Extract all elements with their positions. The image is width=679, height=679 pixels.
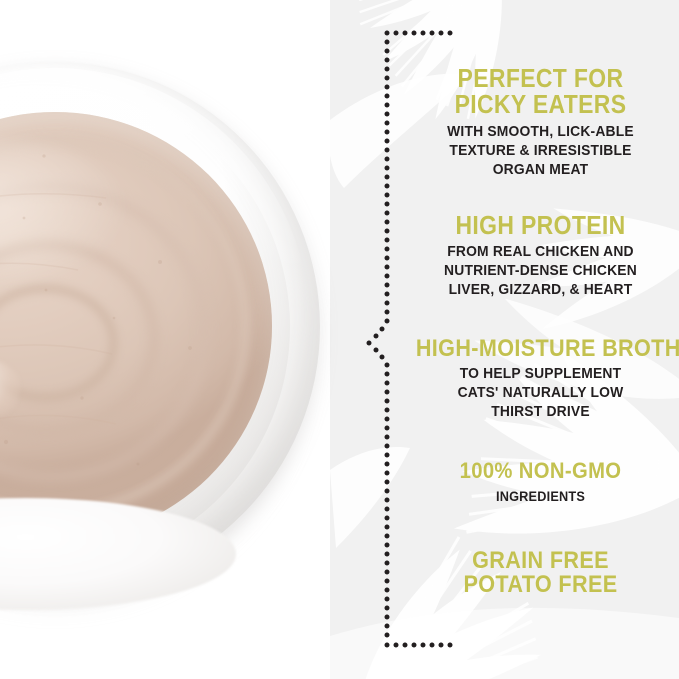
feature-item-high-moisture-broth: HIGH-MOISTURE BROTH TO HELP SUPPLEMENT C… (402, 337, 679, 422)
subtext-line: TEXTURE & IRRESISTIBLE (409, 142, 672, 161)
headline-line: GRAIN FREE (416, 549, 665, 573)
feature-item-high-protein: HIGH PROTEIN FROM REAL CHICKEN AND NUTRI… (402, 213, 679, 300)
headline-line: PICKY EATERS (416, 92, 665, 118)
feature-item-picky-eaters: PERFECT FOR PICKY EATERS WITH SMOOTH, LI… (402, 66, 679, 180)
feature-list: PERFECT FOR PICKY EATERS WITH SMOOTH, LI… (402, 0, 679, 679)
feature-subtext: WITH SMOOTH, LICK-ABLE TEXTURE & IRRESIS… (409, 123, 672, 180)
infographic-canvas: PERFECT FOR PICKY EATERS WITH SMOOTH, LI… (0, 0, 679, 679)
headline-line: HIGH-MOISTURE BROTH (416, 337, 665, 361)
feature-headline: GRAIN FREE POTATO FREE (416, 549, 665, 598)
feature-headline: HIGH PROTEIN (416, 213, 665, 239)
subtext-line: TO HELP SUPPLEMENT (409, 365, 672, 384)
subtext-line: CATS' NATURALLY LOW (409, 384, 672, 403)
feature-subtext: INGREDIENTS (409, 488, 672, 505)
feature-subtext: FROM REAL CHICKEN AND NUTRIENT-DENSE CHI… (409, 243, 672, 300)
subtext-line: NUTRIENT-DENSE CHICKEN (409, 262, 672, 281)
feature-headline: HIGH-MOISTURE BROTH (416, 337, 665, 361)
subtext-line: ORGAN MEAT (409, 161, 672, 180)
feature-subtext: TO HELP SUPPLEMENT CATS' NATURALLY LOW T… (409, 365, 672, 422)
subtext-line: INGREDIENTS (409, 488, 672, 505)
feature-headline: 100% NON-GMO (416, 460, 665, 483)
headline-line: HIGH PROTEIN (416, 213, 665, 239)
headline-line: 100% NON-GMO (416, 460, 665, 483)
headline-line: PERFECT FOR (416, 66, 665, 92)
feature-headline: PERFECT FOR PICKY EATERS (416, 66, 665, 118)
subtext-line: WITH SMOOTH, LICK-ABLE (409, 123, 672, 142)
headline-line: POTATO FREE (416, 573, 665, 597)
feature-item-grain-potato-free: GRAIN FREE POTATO FREE (402, 549, 679, 598)
subtext-line: THIRST DRIVE (409, 403, 672, 422)
subtext-line: FROM REAL CHICKEN AND (409, 243, 672, 262)
subtext-line: LIVER, GIZZARD, & HEART (409, 281, 672, 300)
feature-item-non-gmo: 100% NON-GMO INGREDIENTS (402, 460, 679, 505)
